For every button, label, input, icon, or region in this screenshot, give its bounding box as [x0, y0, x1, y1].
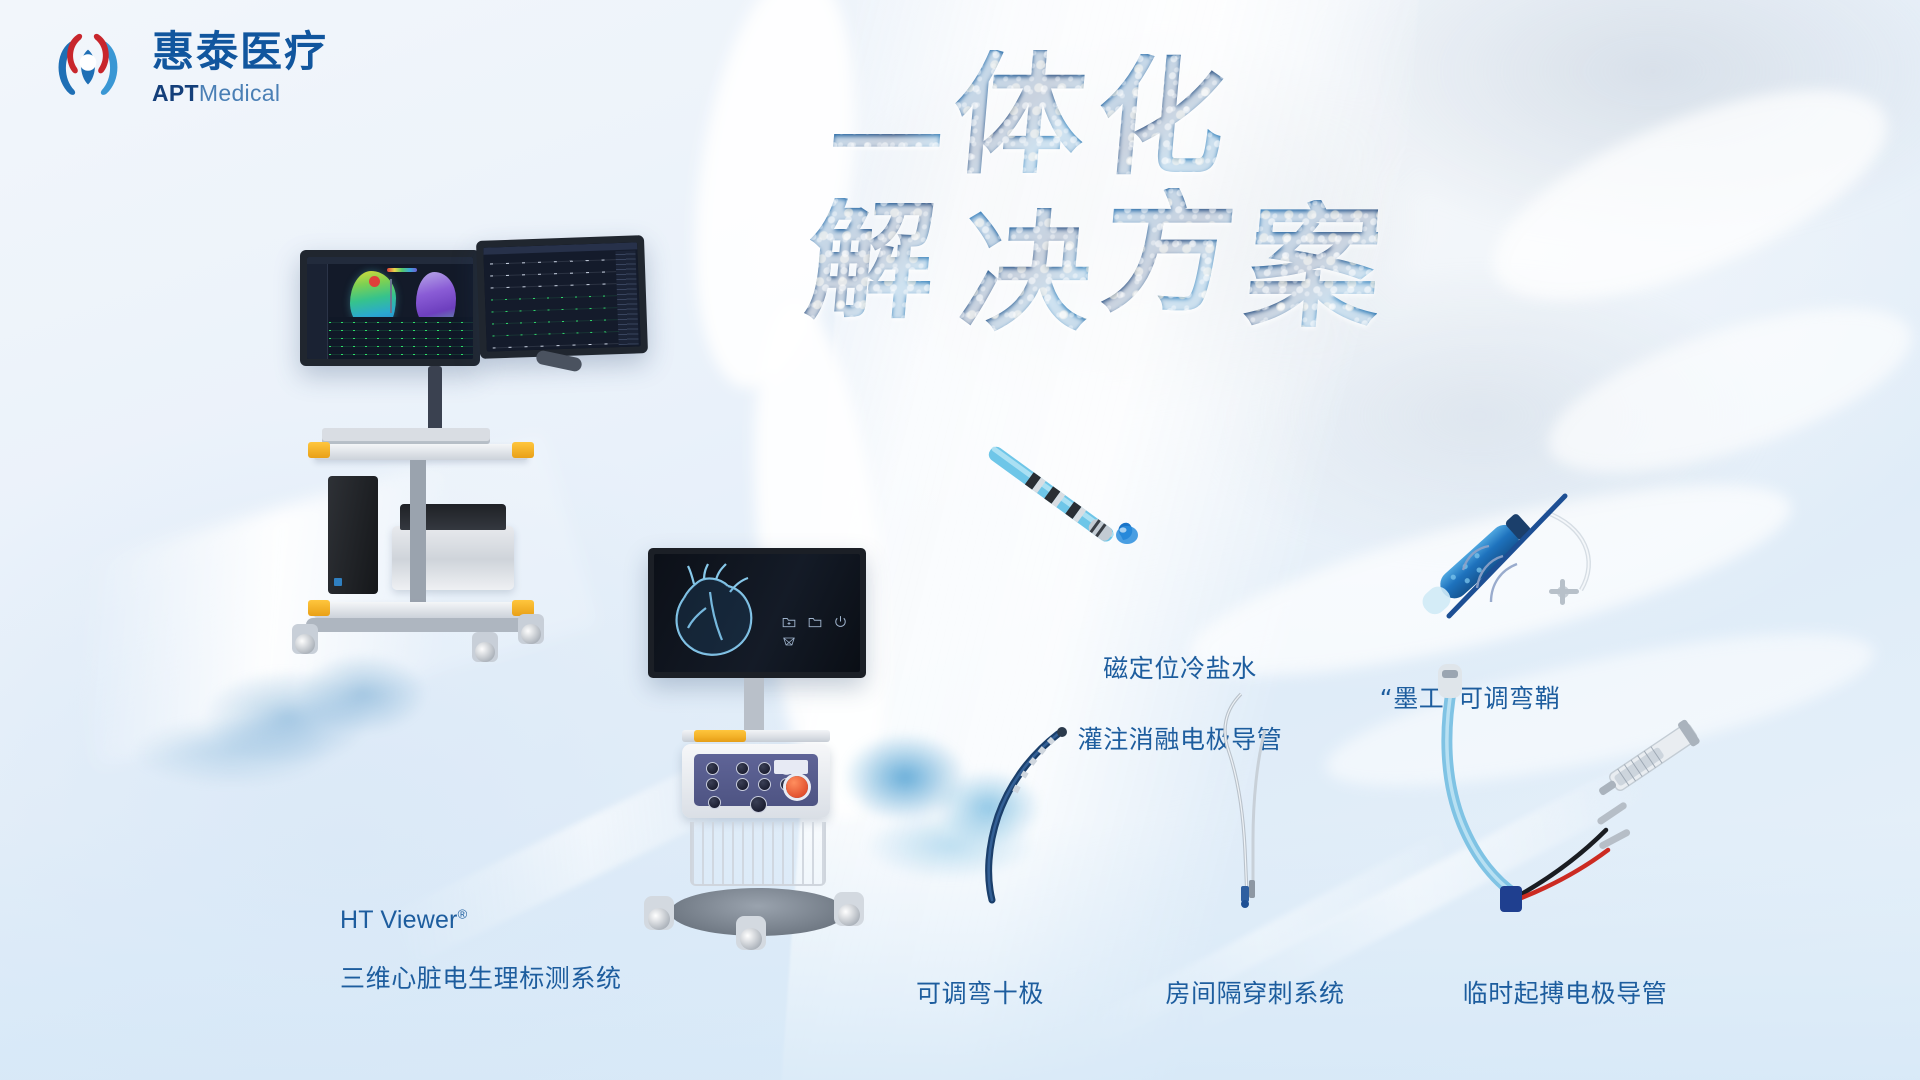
shelf-bumper-left — [308, 442, 330, 458]
workstation-cart-body — [314, 434, 536, 656]
headline-char-5: 决 — [955, 208, 1096, 338]
brand-name-en-bold: APT — [152, 80, 199, 106]
headline-char-1: 一 — [825, 90, 947, 202]
cart-shelf-top — [314, 444, 528, 460]
transseptal-system-label-line1: 房间隔穿刺系统 — [1110, 976, 1400, 1012]
brand-name-en-light: Medical — [199, 80, 280, 106]
ecg-recording-screen — [483, 242, 641, 351]
color-scale-bar — [387, 268, 417, 272]
monitor-stand-post — [428, 366, 442, 434]
3d-mapping-screen — [307, 257, 473, 359]
connector-port-1[interactable] — [706, 762, 719, 775]
trademark-symbol: ® — [458, 907, 468, 922]
generator-caster-1 — [644, 896, 674, 930]
ablation-catheter-product — [975, 440, 1175, 560]
caster-wheel-1 — [292, 624, 318, 654]
generator-caster-2 — [834, 892, 864, 926]
tray-yellow-bumper — [694, 730, 746, 742]
cart-center-post — [410, 460, 426, 610]
catheter-shaft-render — [390, 279, 392, 313]
shelf-bumper-left-2 — [308, 600, 330, 616]
pacing-connector-pins — [1596, 801, 1631, 850]
accessory-basket — [690, 822, 826, 886]
workstation-label-en: HT Viewer® — [340, 868, 622, 939]
connector-port-3[interactable] — [736, 762, 749, 775]
headline-char-3: 化 — [1091, 54, 1230, 182]
workstation-label-cn: 三维心脏电生理标测系统 — [340, 961, 622, 997]
transseptal-system-label: 房间隔穿刺系统 — [1110, 940, 1400, 1047]
temporary-pacing-catheter-label-line1: 临时起搏电极导管 — [1400, 976, 1730, 1012]
measurement-table — [615, 250, 638, 345]
decapolar-catheter-label: 可调弯十极 — [860, 940, 1100, 1047]
heart-visualization-screen — [654, 554, 860, 672]
ecg-trace-panel — [329, 317, 473, 359]
ecg-recording-monitor — [476, 235, 648, 359]
keyboard — [322, 428, 490, 444]
temporary-pacing-catheter-label: 临时起搏电极导管 — [1400, 940, 1730, 1047]
headline-char-7: 案 — [1241, 200, 1387, 334]
steerable-sheath-product — [1385, 440, 1685, 620]
mesh-map-icon[interactable] — [782, 636, 796, 647]
status-display — [774, 760, 808, 774]
new-case-folder-icon[interactable] — [782, 616, 796, 628]
poster-canvas: 惠泰医疗 APTMedical 一 体 化 解 决 方 案 — [0, 0, 1920, 1080]
workstation-label-en-text: HT Viewer — [340, 906, 458, 934]
pacing-catheter-proximal-hub — [1438, 664, 1462, 698]
monitor-pole — [744, 678, 764, 732]
heart-visualization-monitor — [648, 548, 866, 678]
power-icon[interactable] — [834, 615, 847, 628]
brand-name-cn: 惠泰医疗 — [152, 31, 328, 73]
headline-calligraphy: 一 体 化 解 决 方 案 — [975, 48, 1635, 338]
rf-generator-unit — [682, 744, 830, 818]
connector-port-5[interactable] — [758, 762, 771, 775]
3d-mapping-monitor — [300, 250, 480, 366]
headline-char-6: 方 — [1097, 188, 1241, 320]
connector-port-2[interactable] — [706, 778, 719, 791]
headline-char-4: 解 — [801, 198, 940, 326]
brand-logo[interactable]: 惠泰医疗 APTMedical — [42, 22, 328, 114]
ablation-catheter-label-line1: 磁定位冷盐水 — [1040, 651, 1320, 687]
ground-port[interactable] — [708, 796, 721, 809]
headline-char-2: 体 — [947, 50, 1091, 182]
open-case-folder-icon[interactable] — [808, 616, 822, 628]
syringe-accessory — [1592, 719, 1701, 805]
cart-shelf-bottom — [314, 602, 528, 618]
cart-base — [306, 618, 538, 632]
computer-tower — [328, 476, 378, 594]
connector-port-4[interactable] — [736, 778, 749, 791]
emergency-stop-button[interactable] — [786, 776, 808, 798]
decapolar-catheter-label-line1: 可调弯十极 — [860, 976, 1100, 1012]
workstation-label: HT Viewer® 三维心脏电生理标测系统 — [340, 845, 622, 1020]
transseptal-system-product — [1195, 690, 1315, 920]
generator-caster-3 — [736, 916, 766, 950]
apt-medical-double-loop-logo — [42, 22, 134, 114]
temporary-pacing-catheter-product — [1400, 660, 1730, 920]
sheath-hemostasis-valve — [1549, 579, 1579, 605]
decapolar-catheter-product — [940, 720, 1100, 920]
shelf-bumper-right — [512, 442, 534, 458]
rf-generator-control-panel[interactable] — [694, 754, 818, 806]
connector-port-6[interactable] — [758, 778, 771, 791]
caster-wheel-3 — [518, 614, 544, 644]
caster-wheel-2 — [472, 632, 498, 662]
pump-connector-port[interactable] — [750, 796, 767, 813]
pacing-terminal-block — [1500, 886, 1522, 912]
brand-name-en: APTMedical — [152, 82, 328, 105]
heart-anatomy-graphic — [660, 562, 770, 666]
